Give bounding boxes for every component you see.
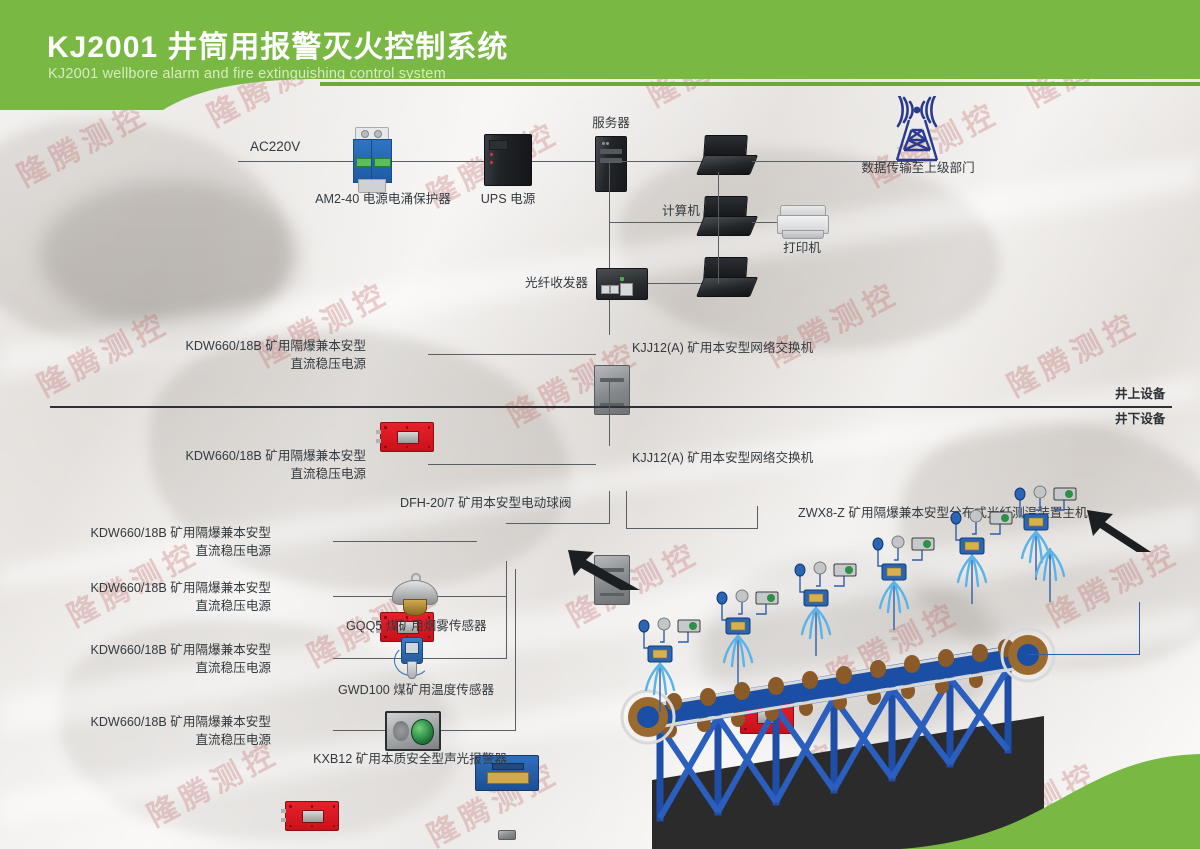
diagram-canvas: 隆腾测控 隆腾测控 隆腾测控 隆腾测控 隆腾测控 隆腾测控 隆腾测控 隆腾测控 …: [0, 0, 1200, 849]
label-uplink: 数据传输至上级部门: [848, 160, 988, 177]
alarm-riser-line: [515, 569, 516, 731]
computer-device: [700, 135, 752, 175]
surface-to-underground-spine: [609, 381, 610, 446]
label-surge-protector: AM2-40 电源电涌保护器: [308, 191, 458, 208]
server-device: [595, 136, 627, 192]
computer-device: [700, 196, 752, 236]
page-subtitle: KJ2001 wellbore alarm and fire extinguis…: [48, 66, 446, 82]
sprinkler-station: [790, 560, 868, 656]
power-supply-surface-device: [380, 422, 434, 452]
label-power-supply-line1: KDW660/18B 矿用隔爆兼本安型: [73, 580, 271, 597]
label-power-supply-line2: 直流稳压电源: [168, 466, 366, 483]
label-power-supply-line1: KDW660/18B 矿用隔爆兼本安型: [73, 525, 271, 542]
ug-power-link-1: [428, 464, 596, 465]
antenna-icon: [882, 96, 952, 164]
printer-link: [752, 222, 780, 223]
label-underground: 井下设备: [1115, 411, 1165, 428]
valve-riser-line: [609, 491, 610, 524]
alarm-row-line: [333, 730, 385, 731]
laptop-tie-line: [718, 172, 719, 284]
label-power-supply-line1: KDW660/18B 矿用隔爆兼本安型: [73, 714, 271, 731]
fiber-transceiver-device: [596, 268, 648, 300]
label-computer: 计算机: [662, 203, 700, 220]
ac-bus-line: [238, 161, 608, 162]
label-power-supply-line2: 直流稳压电源: [73, 660, 271, 677]
surge-protector-device: [350, 127, 392, 191]
label-switch-underground: KJJ12(A) 矿用本安型网络交换机: [632, 450, 813, 467]
label-smoke-sensor: GQQ5 煤矿用烟雾传感器: [346, 618, 482, 635]
label-ups: UPS 电源: [470, 191, 546, 208]
ups-device: [484, 134, 532, 186]
terminal-feed-horizontal: [1028, 654, 1140, 655]
temperature-sensor-device: [392, 634, 430, 682]
label-temp-sensor: GWD100 煤矿用温度传感器: [338, 682, 490, 699]
surface-power-link: [428, 354, 596, 355]
label-fiber-transceiver: 光纤收发器: [466, 275, 588, 292]
label-power-supply-surface-line1: KDW660/18B 矿用隔爆兼本安型: [168, 338, 366, 355]
label-ball-valve: DFH-20/7 矿用本安型电动球阀: [400, 495, 571, 512]
label-power-supply-line1: KDW660/18B 矿用隔爆兼本安型: [73, 642, 271, 659]
sprinkler-station: [712, 588, 790, 684]
smoke-sensor-device: [392, 573, 436, 617]
printer-device: [777, 205, 827, 239]
label-power-supply-line2: 直流稳压电源: [73, 543, 271, 560]
valve-link-line: [506, 523, 610, 524]
label-power-supply-line2: 直流稳压电源: [73, 732, 271, 749]
label-server: 服务器: [578, 115, 644, 132]
label-power-supply-line1: KDW660/18B 矿用隔爆兼本安型: [168, 448, 366, 465]
label-printer: 打印机: [772, 240, 832, 257]
label-power-supply-line2: 直流稳压电源: [73, 598, 271, 615]
label-switch-surface: KJJ12(A) 矿用本安型网络交换机: [632, 340, 813, 357]
ug-power-link-2: [333, 541, 477, 542]
sprinkler-station: [634, 616, 712, 712]
label-above-ground: 井上设备: [1115, 386, 1165, 403]
valve-stub: [506, 561, 507, 569]
label-ac220v: AC220V: [250, 138, 300, 155]
zwx-link-line: [626, 528, 758, 529]
computer-device: [700, 257, 752, 297]
zwx-riser-line: [757, 506, 758, 529]
sprinkler-station: [868, 534, 946, 630]
temp-riser-line: [506, 596, 507, 659]
smoke-riser-line: [506, 569, 507, 597]
page-title: KJ2001 井筒用报警灭火控制系统: [47, 22, 508, 66]
label-power-supply-surface-line2: 直流稳压电源: [168, 356, 366, 373]
alarm-row-line-right: [436, 730, 516, 731]
sprinkler-station: [1024, 542, 1102, 602]
sound-light-alarm-device: [385, 711, 441, 751]
zwx-drop-line: [626, 491, 627, 529]
footer-decoration: [0, 754, 1200, 849]
page-header: KJ2001 井筒用报警灭火控制系统 KJ2001 wellbore alarm…: [0, 0, 1200, 110]
surface-underground-divider: [50, 406, 1172, 408]
terminal-feed-vertical: [1139, 602, 1140, 654]
